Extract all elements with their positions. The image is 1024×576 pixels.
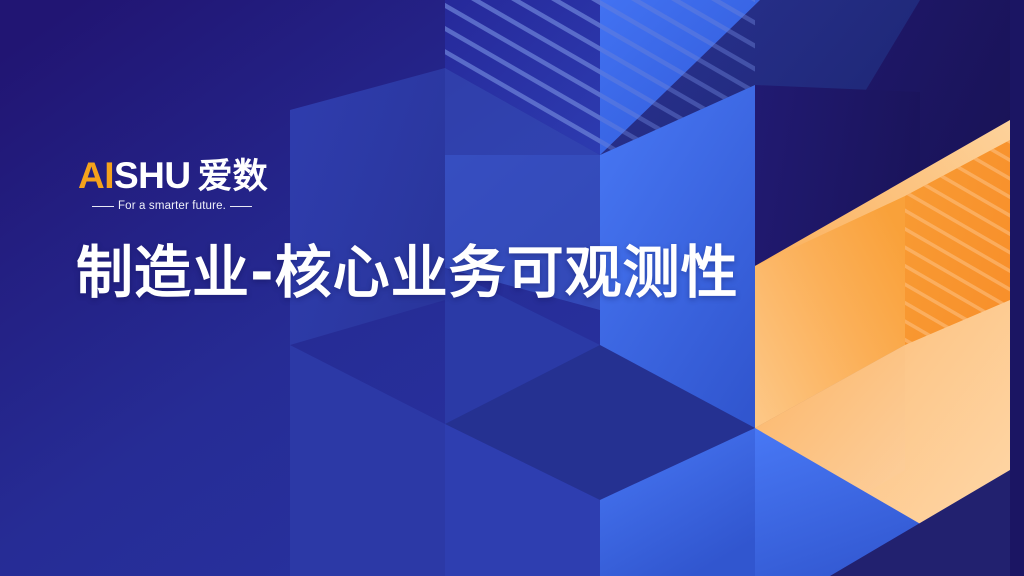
tagline-rule-right: [230, 206, 252, 207]
title-slide: AISHU爱数 For a smarter future. 制造业-核心业务可观…: [0, 0, 1024, 576]
logo-chinese-text: 爱数: [198, 157, 268, 197]
logo-tagline: For a smarter future.: [92, 200, 288, 212]
aishu-logo: AISHU爱数 For a smarter future.: [78, 156, 408, 212]
logo-wordmark: AISHU爱数: [78, 156, 408, 197]
page-title: 制造业-核心业务可观测性: [76, 238, 739, 308]
tagline-rule-left: [92, 206, 114, 207]
tagline-text: For a smarter future.: [114, 200, 230, 212]
logo-shu-text: SHU: [114, 156, 191, 196]
logo-ai-text: AI: [78, 156, 114, 196]
